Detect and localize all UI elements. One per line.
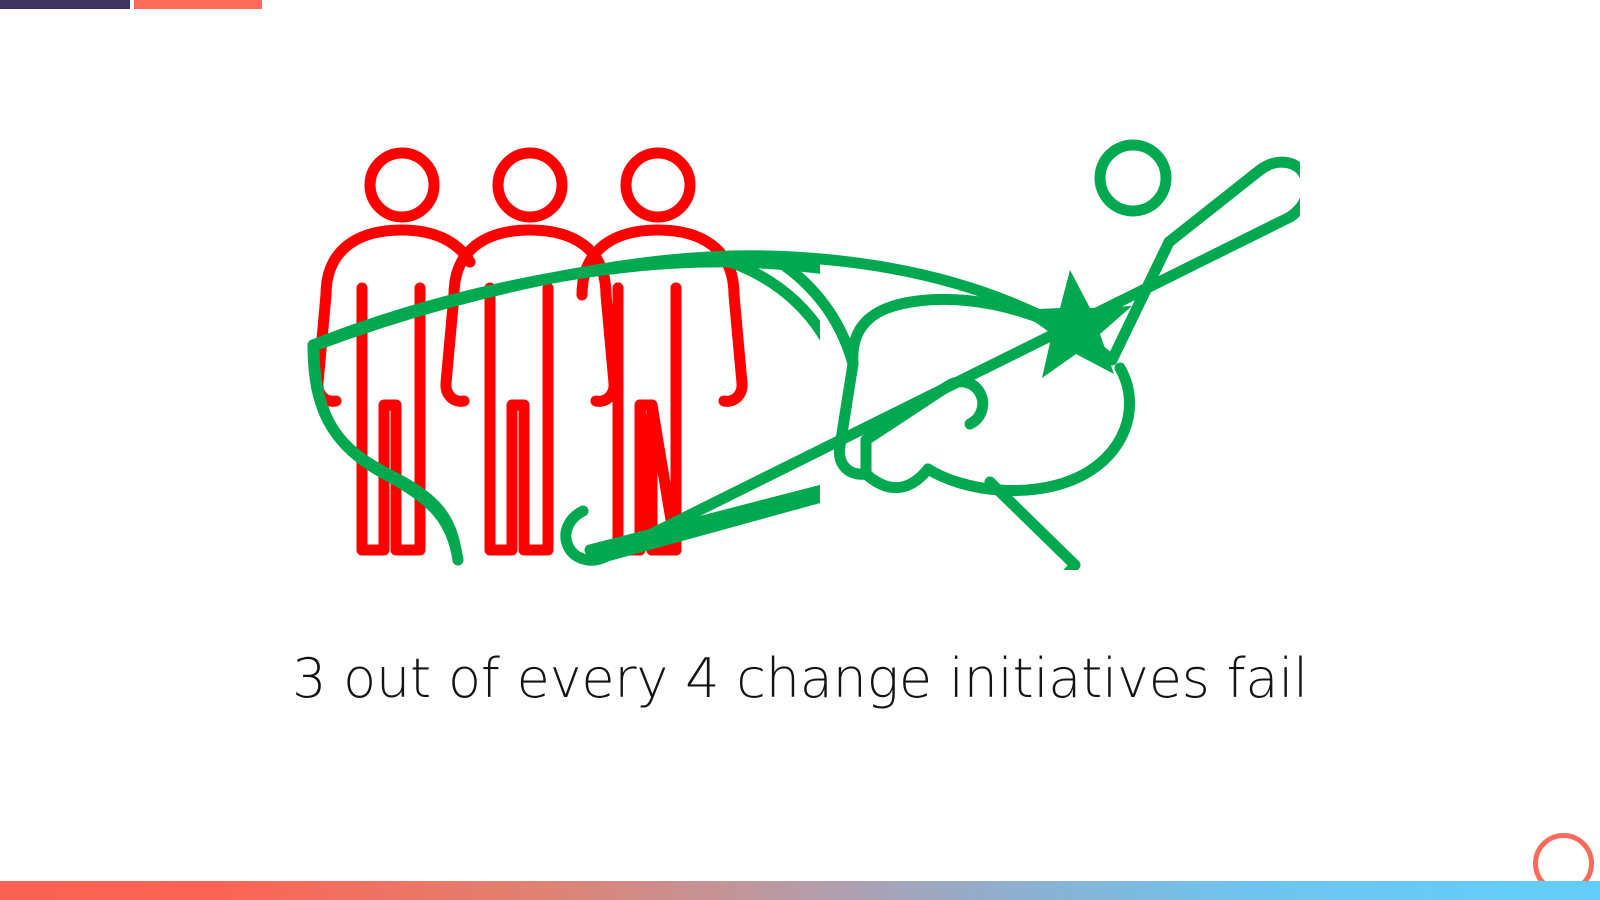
slide-canvas: 3 out of every 4 change initiatives fail xyxy=(0,0,1600,900)
red-people-group xyxy=(318,153,742,550)
purple-accent-bar xyxy=(0,0,130,9)
page-caption: 3 out of every 4 change initiatives fail xyxy=(0,648,1600,710)
standing-person-icon xyxy=(446,153,614,550)
gradient-footer-bar xyxy=(0,881,1600,900)
coral-accent-bar xyxy=(134,0,262,9)
illustration xyxy=(300,120,1300,570)
